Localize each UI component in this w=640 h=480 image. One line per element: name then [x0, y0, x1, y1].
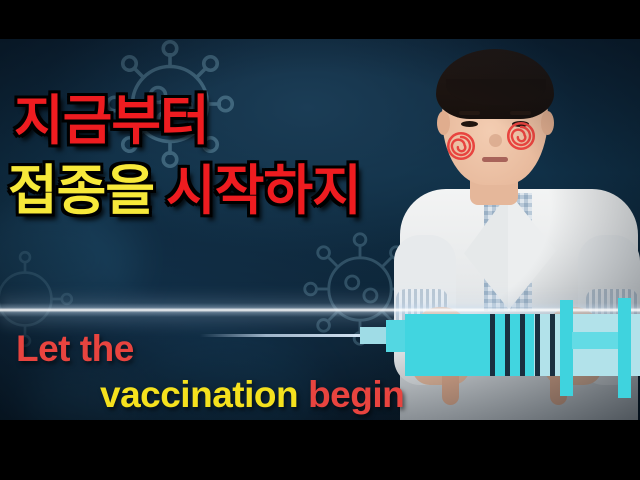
- subtitle-line-2-red: begin: [308, 374, 404, 415]
- subtitle-line-1: Let the: [0, 330, 470, 367]
- syringe-graduation-mark: [550, 314, 555, 376]
- headline-line-2: 접종을시작하지: [0, 164, 430, 218]
- syringe-graduation-mark: [505, 314, 510, 376]
- syringe-plunger-handle: [618, 298, 631, 398]
- headline-line-2-yellow: 접종을: [8, 161, 154, 221]
- syringe-graduation-mark: [490, 314, 495, 376]
- letterbox-bar-top: [0, 0, 640, 39]
- headline-line-2-red: 시작하지: [166, 161, 361, 221]
- subtitle-english: Let the vaccinationbegin: [0, 330, 470, 413]
- headline-line-1: 지금부터: [0, 94, 430, 148]
- syringe-graduation-mark: [535, 314, 540, 376]
- subtitle-line-2-yellow: vaccination: [100, 374, 298, 415]
- thumbnail-canvas: 지금부터 접종을시작하지 Let the vaccinationbegin: [0, 0, 640, 480]
- subtitle-line-2: vaccinationbegin: [0, 376, 470, 413]
- syringe-graduation-mark: [520, 314, 525, 376]
- headline-korean: 지금부터 접종을시작하지: [0, 94, 430, 218]
- letterbox-bar-bottom: [0, 420, 640, 480]
- video-frame: 지금부터 접종을시작하지 Let the vaccinationbegin: [0, 39, 640, 420]
